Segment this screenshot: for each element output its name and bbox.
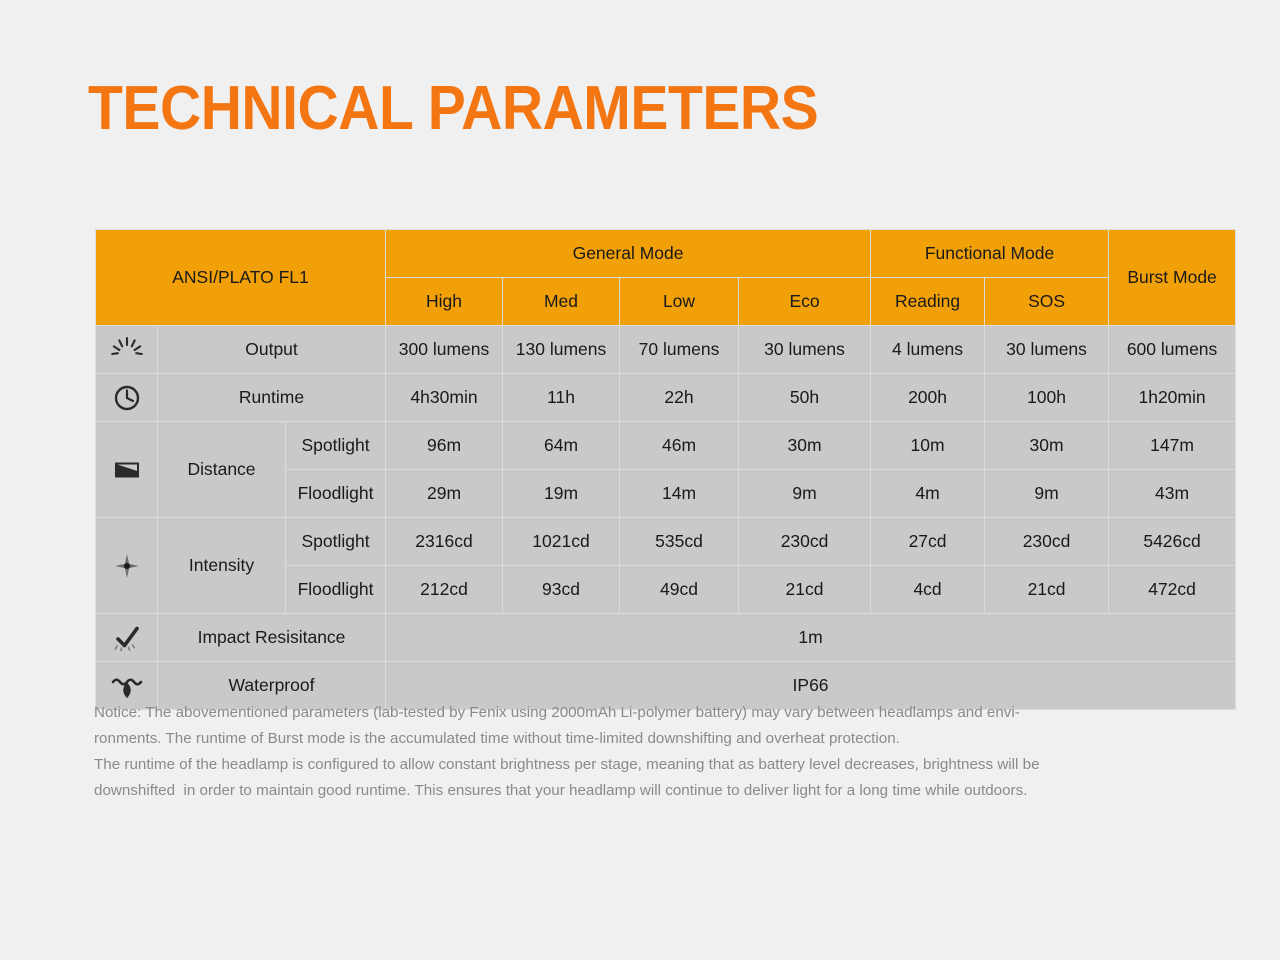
cell-distance-spotlight-low: 46m [620,422,739,470]
header-group-general-mode: General Mode [386,230,871,278]
header-ansi-plato: ANSI/PLATO FL1 [96,230,386,326]
row-label-impact-resistance: Impact Resisitance [158,614,386,662]
cell-intensity-floodlight-low: 49cd [620,566,739,614]
cell-distance-floodlight-low: 14m [620,470,739,518]
cell-runtime-high: 4h30min [386,374,503,422]
row-label-runtime: Runtime [158,374,386,422]
cell-intensity-floodlight-reading: 4cd [871,566,985,614]
header-mode-eco: Eco [739,278,871,326]
page-title: TECHNICAL PARAMETERS [88,78,818,140]
cell-intensity-spotlight-med: 1021cd [503,518,620,566]
header-group-burst-mode: Burst Mode [1109,230,1236,326]
cell-distance-spotlight-med: 64m [503,422,620,470]
cell-output-low: 70 lumens [620,326,739,374]
cell-intensity-floodlight-med: 93cd [503,566,620,614]
table-row-intensity-spotlight: Intensity Spotlight 2316cd 1021cd 535cd … [96,518,1236,566]
cell-distance-spotlight-burst: 147m [1109,422,1236,470]
cell-distance-floodlight-sos: 9m [985,470,1109,518]
header-mode-reading: Reading [871,278,985,326]
cell-runtime-reading: 200h [871,374,985,422]
header-row-groups: ANSI/PLATO FL1 General Mode Functional M… [96,230,1236,278]
table-row-runtime: Runtime 4h30min 11h 22h 50h 200h 100h 1h… [96,374,1236,422]
cell-impact-resistance-value: 1m [386,614,1236,662]
table-row-distance-spotlight: Distance Spotlight 96m 64m 46m 30m 10m 3… [96,422,1236,470]
cell-intensity-spotlight-eco: 230cd [739,518,871,566]
row-sublabel-distance-spotlight: Spotlight [286,422,386,470]
cell-output-eco: 30 lumens [739,326,871,374]
cell-distance-spotlight-sos: 30m [985,422,1109,470]
beam-icon [96,422,158,518]
cell-output-sos: 30 lumens [985,326,1109,374]
specifications-table: ANSI/PLATO FL1 General Mode Functional M… [95,229,1236,710]
cell-distance-floodlight-burst: 43m [1109,470,1236,518]
cell-runtime-eco: 50h [739,374,871,422]
cell-output-burst: 600 lumens [1109,326,1236,374]
impact-check-icon [96,614,158,662]
cell-distance-spotlight-eco: 30m [739,422,871,470]
row-label-output: Output [158,326,386,374]
cell-distance-floodlight-reading: 4m [871,470,985,518]
row-sublabel-intensity-floodlight: Floodlight [286,566,386,614]
technical-parameters-page: TECHNICAL PARAMETERS ANSI/PLATO FL1 Gene… [0,0,1280,960]
notice-line-3: The runtime of the headlamp is configure… [94,752,1190,778]
cell-intensity-spotlight-low: 535cd [620,518,739,566]
cell-runtime-med: 11h [503,374,620,422]
sunburst-icon [96,326,158,374]
cell-output-reading: 4 lumens [871,326,985,374]
cell-intensity-spotlight-sos: 230cd [985,518,1109,566]
cell-intensity-spotlight-burst: 5426cd [1109,518,1236,566]
cell-distance-floodlight-high: 29m [386,470,503,518]
cell-distance-spotlight-high: 96m [386,422,503,470]
cell-runtime-sos: 100h [985,374,1109,422]
header-group-functional-mode: Functional Mode [871,230,1109,278]
row-sublabel-distance-floodlight: Floodlight [286,470,386,518]
cell-runtime-burst: 1h20min [1109,374,1236,422]
cell-intensity-spotlight-high: 2316cd [386,518,503,566]
table-row-output: Output 300 lumens 130 lumens 70 lumens 3… [96,326,1236,374]
cell-output-high: 300 lumens [386,326,503,374]
cell-distance-floodlight-eco: 9m [739,470,871,518]
cell-intensity-floodlight-sos: 21cd [985,566,1109,614]
specs-table-container: ANSI/PLATO FL1 General Mode Functional M… [95,229,1185,710]
clock-icon [96,374,158,422]
row-label-intensity: Intensity [158,518,286,614]
notice-line-2: ronments. The runtime of Burst mode is t… [94,726,1190,752]
cell-runtime-low: 22h [620,374,739,422]
header-mode-low: Low [620,278,739,326]
header-mode-med: Med [503,278,620,326]
header-mode-high: High [386,278,503,326]
cell-intensity-floodlight-eco: 21cd [739,566,871,614]
cell-intensity-spotlight-reading: 27cd [871,518,985,566]
header-mode-sos: SOS [985,278,1109,326]
table-row-impact-resistance: Impact Resisitance 1m [96,614,1236,662]
cell-intensity-floodlight-burst: 472cd [1109,566,1236,614]
cell-distance-floodlight-med: 19m [503,470,620,518]
notice-line-1: Notice: The abovementioned parameters (l… [94,700,1190,726]
star-intensity-icon [96,518,158,614]
cell-distance-spotlight-reading: 10m [871,422,985,470]
notice-line-4: downshifted in order to maintain good ru… [94,778,1190,804]
row-sublabel-intensity-spotlight: Spotlight [286,518,386,566]
row-label-distance: Distance [158,422,286,518]
notice-block: Notice: The abovementioned parameters (l… [94,700,1190,804]
cell-output-med: 130 lumens [503,326,620,374]
cell-intensity-floodlight-high: 212cd [386,566,503,614]
